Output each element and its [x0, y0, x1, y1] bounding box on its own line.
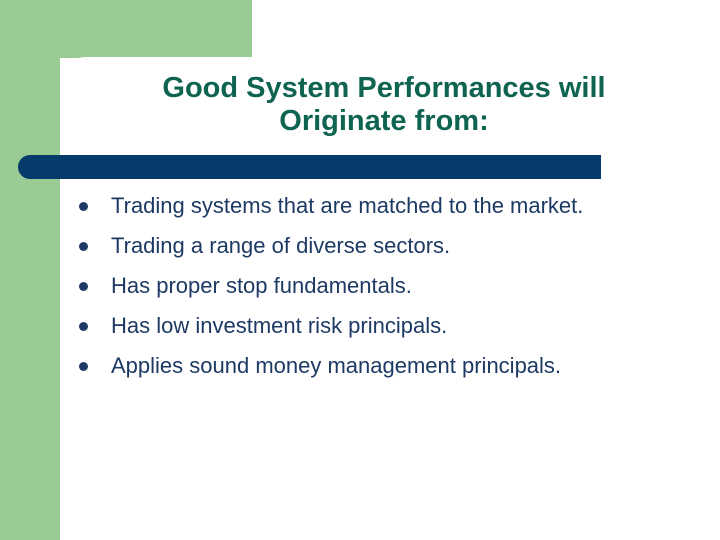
list-item-label: Trading systems that are matched to the … — [111, 192, 703, 219]
list-item: Applies sound money management principal… — [78, 352, 703, 379]
bullet-disc-icon — [79, 322, 88, 331]
list-item: Has proper stop fundamentals. — [78, 272, 703, 299]
slide-title-line-2: Originate from: — [60, 105, 708, 138]
title-divider-bar — [18, 155, 601, 179]
slide-title-line-1: Good System Performances will — [60, 72, 708, 105]
list-item-label: Has low investment risk principals. — [111, 312, 703, 339]
bullet-list: Trading systems that are matched to the … — [78, 192, 703, 379]
list-item-label: Applies sound money management principal… — [111, 352, 703, 379]
bullet-disc-icon — [79, 242, 88, 251]
list-item: Has low investment risk principals. — [78, 312, 703, 339]
slide-title: Good System Performances will Originate … — [60, 72, 708, 138]
list-item: Trading a range of diverse sectors. — [78, 232, 703, 259]
bullet-disc-icon — [79, 282, 88, 291]
list-item-label: Has proper stop fundamentals. — [111, 272, 703, 299]
list-item-label: Trading a range of diverse sectors. — [111, 232, 703, 259]
bullet-disc-icon — [79, 202, 88, 211]
bullet-disc-icon — [79, 362, 88, 371]
green-sidebar-decoration — [0, 0, 60, 540]
list-item: Trading systems that are matched to the … — [78, 192, 703, 219]
slide: Good System Performances will Originate … — [0, 0, 720, 540]
